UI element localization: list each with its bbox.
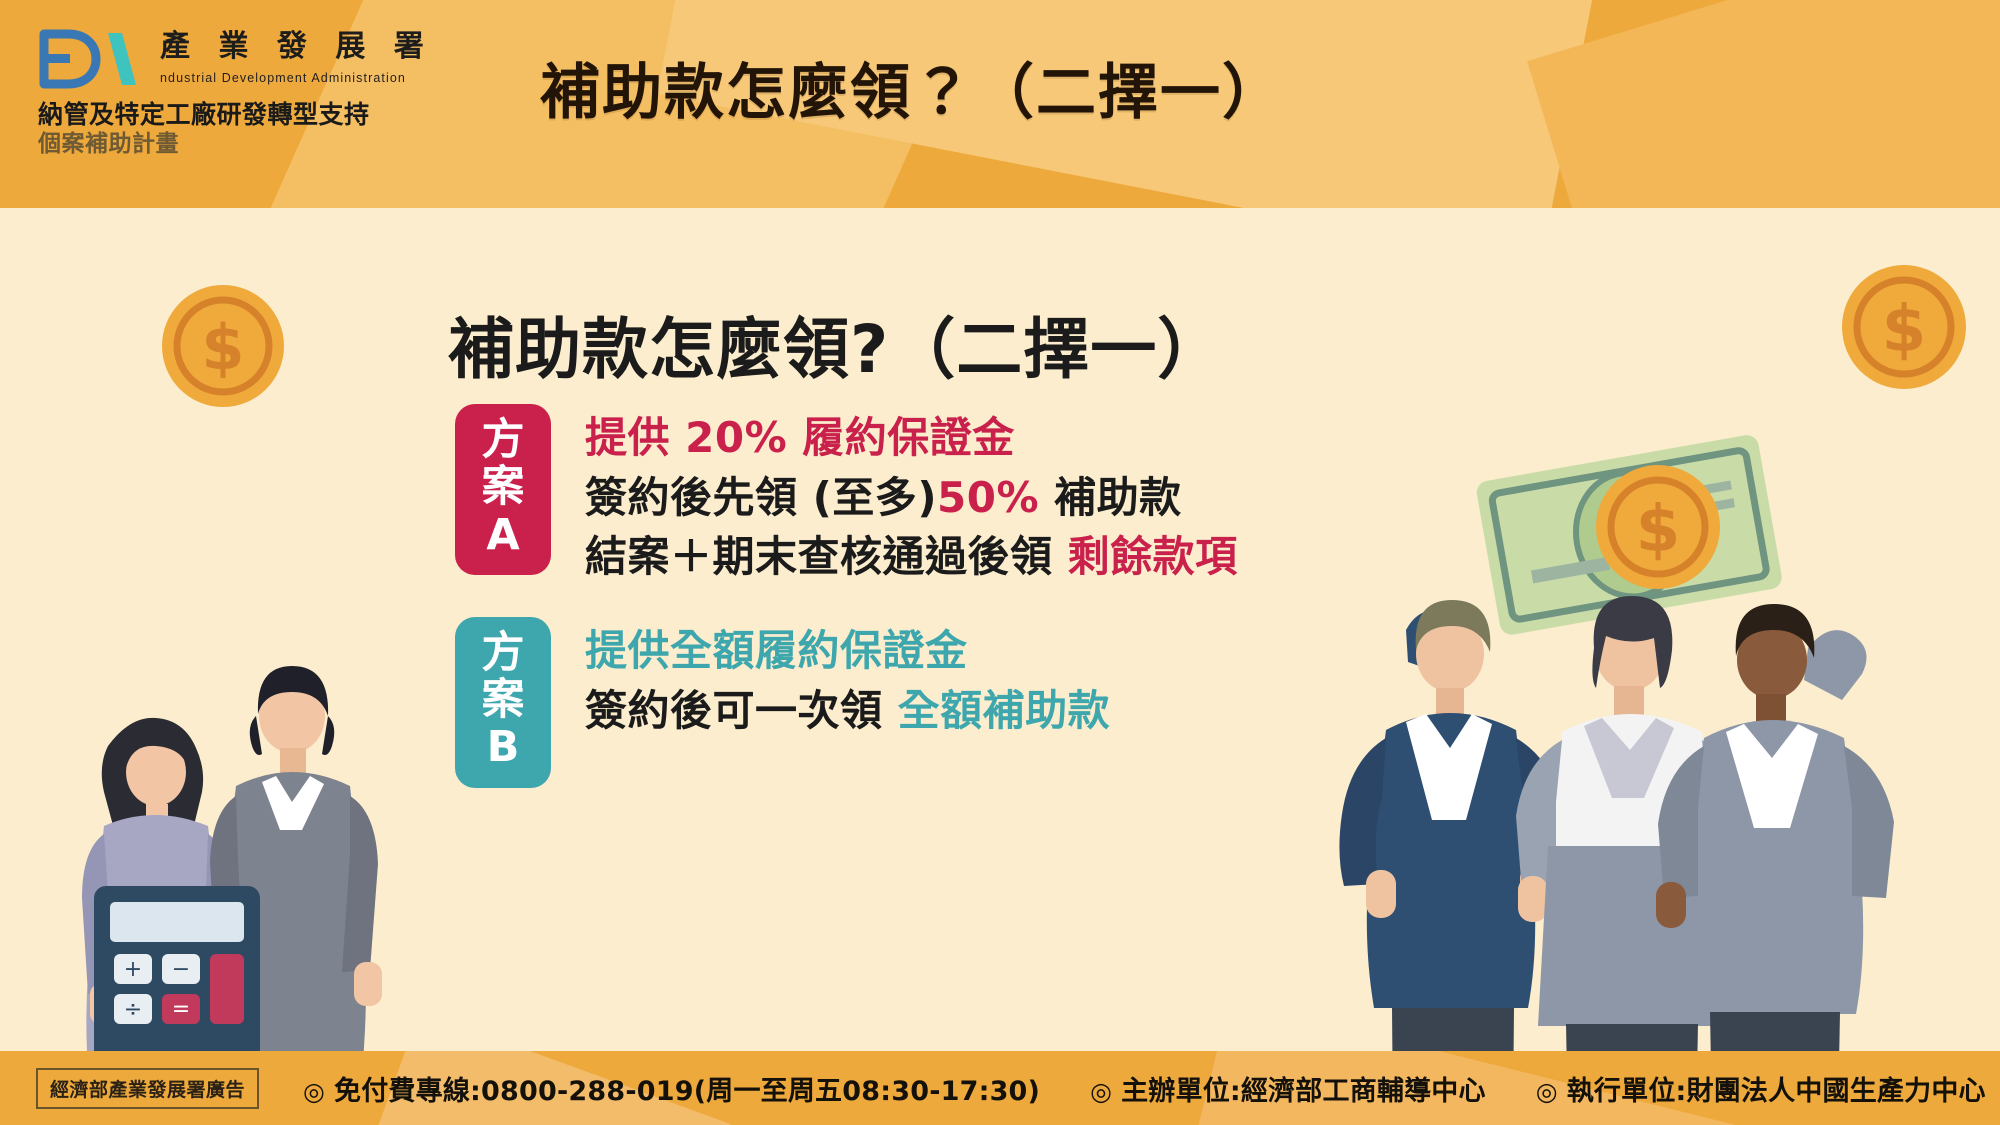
plan-a-line-2-seg-1: 簽約後先領 (至多) (585, 473, 937, 522)
dollar-coin-left-icon: $ (160, 283, 286, 414)
footer-hotline: ◎免付費專線:0800-288-019(周一至周五08:30-17:30) (303, 1069, 1040, 1108)
plan-b-badge: 方 案 B (455, 617, 551, 788)
svg-text:$: $ (201, 311, 244, 384)
footer-organizer-text: 主辦單位:經濟部工商輔導中心 (1121, 1076, 1486, 1107)
footer-executor-text: 執行單位:財團法人中國生產力中心 (1567, 1076, 1986, 1107)
brand-en-name: ndustrial Development Administration (160, 71, 433, 85)
svg-text:÷: ÷ (124, 997, 142, 1022)
svg-text:+: + (124, 957, 142, 982)
plan-a-line-2: 簽約後先領 (至多)50% 補助款 (585, 468, 1238, 528)
plan-b-line-2-seg-1: 簽約後可一次領 (585, 686, 898, 735)
plan-a-line-1-seg-1: 提供 20% 履約保證金 (585, 413, 1015, 462)
svg-text:$: $ (1636, 493, 1681, 567)
plan-b-badge-char-2: 案 (455, 677, 551, 724)
advertisement-tag: 經濟部產業發展署廣告 (36, 1068, 259, 1109)
plan-row-b: 方 案 B 提供全額履約保證金 簽約後可一次領 全額補助款 (455, 617, 1238, 788)
header-decor-wedge-3 (1527, 0, 2000, 208)
plan-b-line-1: 提供全額履約保證金 (585, 621, 1110, 681)
footer-organizer: ◎主辦單位:經濟部工商輔導中心 (1090, 1069, 1486, 1108)
plan-b-badge-char-3: B (455, 724, 551, 771)
plan-b-lines: 提供全額履約保證金 簽約後可一次領 全額補助款 (585, 617, 1110, 740)
poster-root: 產 業 發 展 署 ndustrial Development Administ… (0, 0, 2000, 1125)
plan-a-line-1: 提供 20% 履約保證金 (585, 408, 1238, 468)
plan-b-line-2-seg-2: 全額補助款 (898, 686, 1111, 735)
footer-executor: ◎執行單位:財團法人中國生產力中心 (1536, 1069, 1986, 1108)
plan-list: 方 案 A 提供 20% 履約保證金 簽約後先領 (至多)50% 補助款 結案＋… (455, 404, 1238, 788)
program-title-line1: 納管及特定工廠研發轉型支持 (38, 101, 438, 129)
footer-bar: 經濟部產業發展署廣告 ◎免付費專線:0800-288-019(周一至周五08:3… (0, 1051, 2000, 1125)
plan-a-lines: 提供 20% 履約保證金 簽約後先領 (至多)50% 補助款 結案＋期末查核通過… (585, 404, 1238, 587)
header-bar: 產 業 發 展 署 ndustrial Development Administ… (0, 0, 2000, 208)
dollar-coin-center-icon: $ (1594, 463, 1722, 596)
main-headline: 補助款怎麼領?（二擇一） (448, 296, 1224, 392)
plan-b-line-1-seg-1: 提供全額履約保證金 (585, 626, 968, 675)
footer-hotline-text: 免付費專線:0800-288-019(周一至周五08:30-17:30) (334, 1076, 1040, 1107)
da-logo-icon (38, 28, 142, 90)
ring-icon-2: ◎ (1090, 1077, 1112, 1106)
plan-b-line-2: 簽約後可一次領 全額補助款 (585, 681, 1110, 741)
calculator-icon: + − ÷ = (94, 886, 260, 1051)
plan-a-badge-char-2: 案 (455, 464, 551, 511)
plan-a-badge-char-3: A (455, 512, 551, 559)
ring-icon-1: ◎ (303, 1077, 325, 1106)
left-illustration: + − ÷ = (30, 416, 460, 1051)
brand-block: 產 業 發 展 署 ndustrial Development Administ… (38, 24, 438, 159)
plan-a-badge: 方 案 A (455, 404, 551, 575)
dollar-coin-top-right-icon: $ (1840, 263, 1968, 396)
main-content: + − ÷ = $ (0, 208, 2000, 1051)
plan-a-line-3-seg-1: 結案＋期末查核通過後領 (585, 532, 1068, 581)
plan-row-a: 方 案 A 提供 20% 履約保證金 簽約後先領 (至多)50% 補助款 結案＋… (455, 404, 1238, 587)
svg-text:=: = (172, 997, 190, 1022)
svg-text:$: $ (1882, 293, 1927, 367)
plan-a-line-2-seg-3: 補助款 (1039, 473, 1182, 522)
plan-a-badge-char-1: 方 (455, 417, 551, 464)
plan-a-line-3-seg-2: 剩餘款項 (1068, 532, 1238, 581)
svg-text:−: − (172, 957, 190, 982)
program-title-line2: 個案補助計畫 (38, 131, 438, 159)
plan-a-line-3: 結案＋期末查核通過後領 剩餘款項 (585, 527, 1238, 587)
plan-a-line-2-seg-2: 50% (937, 473, 1039, 522)
brand-cn-name: 產 業 發 展 署 (160, 32, 433, 62)
plan-b-badge-char-1: 方 (455, 630, 551, 677)
page-title: 補助款怎麼領？（二擇一） (540, 44, 1284, 131)
ring-icon-3: ◎ (1536, 1077, 1558, 1106)
